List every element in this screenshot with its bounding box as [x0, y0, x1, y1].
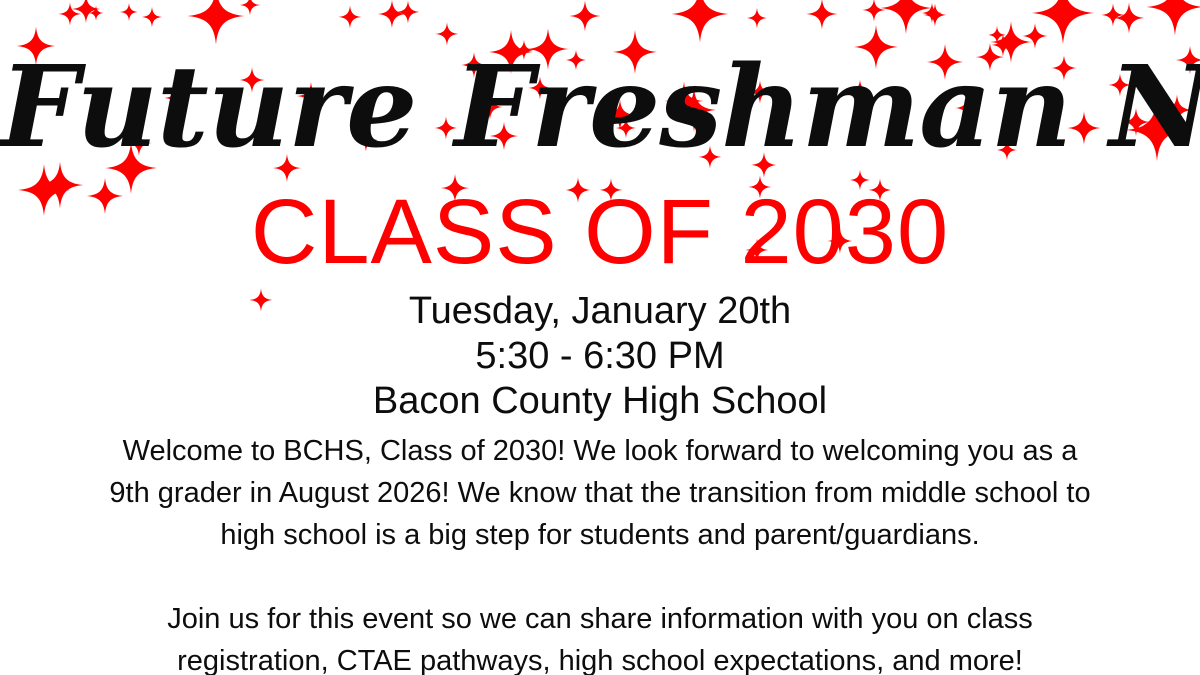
- four-point-sparkle-icon: [880, 0, 932, 34]
- four-point-sparkle-icon: [1113, 2, 1144, 33]
- four-point-sparkle-icon: [806, 0, 837, 30]
- four-point-sparkle-icon: [396, 0, 419, 23]
- paragraph-spacer: [100, 556, 1100, 598]
- four-point-sparkle-icon: [1146, 0, 1200, 36]
- four-point-sparkle-icon: [88, 5, 104, 21]
- event-location: Bacon County High School: [0, 379, 1200, 424]
- body-paragraph-invitation: Join us for this event so we can share i…: [100, 598, 1100, 675]
- four-point-sparkle-icon: [187, 0, 244, 45]
- body-paragraph-welcome: Welcome to BCHS, Class of 2030! We look …: [100, 430, 1100, 556]
- flyer-canvas: Future Freshman Night CLASS OF 2030 Tues…: [0, 0, 1200, 675]
- body-copy-block: Welcome to BCHS, Class of 2030! We look …: [100, 430, 1100, 675]
- class-of-subtitle: CLASS OF 2030: [0, 186, 1200, 278]
- four-point-sparkle-icon: [923, 3, 946, 26]
- four-point-sparkle-icon: [862, 0, 885, 22]
- four-point-sparkle-icon: [569, 0, 600, 31]
- four-point-sparkle-icon: [72, 0, 101, 23]
- four-point-sparkle-icon: [120, 3, 138, 21]
- four-point-sparkle-icon: [1101, 3, 1124, 26]
- four-point-sparkle-icon: [58, 2, 81, 25]
- event-date: Tuesday, January 20th: [0, 289, 1200, 334]
- four-point-sparkle-icon: [671, 0, 728, 43]
- four-point-sparkle-icon: [1032, 0, 1094, 44]
- event-details-block: Tuesday, January 20th 5:30 - 6:30 PM Bac…: [0, 289, 1200, 424]
- four-point-sparkle-icon: [378, 0, 407, 28]
- four-point-sparkle-icon: [922, 3, 943, 24]
- event-title-script: Future Freshman Night: [0, 52, 1200, 164]
- four-point-sparkle-icon: [240, 0, 261, 15]
- event-time: 5:30 - 6:30 PM: [0, 334, 1200, 379]
- four-point-sparkle-icon: [142, 7, 163, 28]
- four-point-sparkle-icon: [338, 5, 361, 28]
- four-point-sparkle-icon: [747, 8, 768, 29]
